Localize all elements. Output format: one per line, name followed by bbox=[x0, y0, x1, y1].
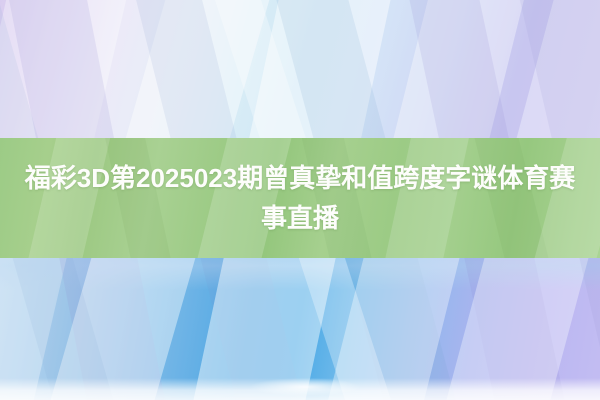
bottom-glow bbox=[250, 378, 360, 396]
page-title: 福彩3D第2025023期曾真挚和值跨度字谜体育赛事直播 bbox=[22, 158, 578, 238]
title-band: 福彩3D第2025023期曾真挚和值跨度字谜体育赛事直播 bbox=[0, 138, 600, 258]
banner-image: 福彩3D第2025023期曾真挚和值跨度字谜体育赛事直播 bbox=[0, 0, 600, 400]
